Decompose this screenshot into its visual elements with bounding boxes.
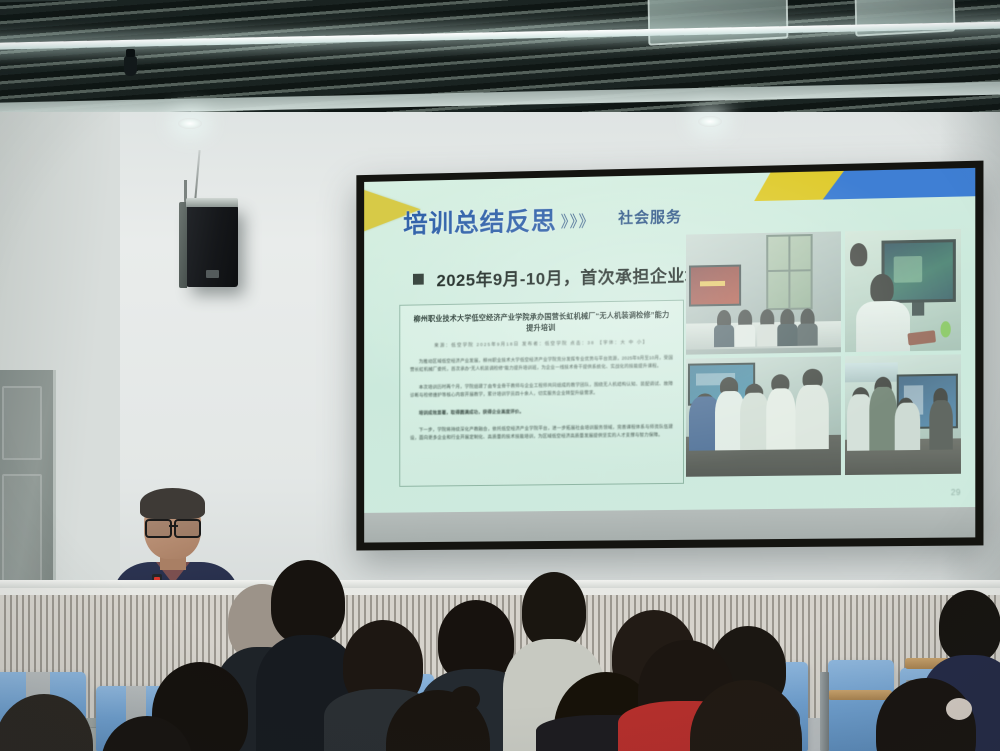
pa-speaker (186, 205, 238, 287)
ceiling (0, 0, 1000, 120)
person-body (766, 388, 795, 450)
person-head (522, 572, 586, 648)
glasses-icon (145, 519, 201, 534)
person-body (796, 385, 829, 450)
person-head (101, 716, 193, 751)
bullet-square-icon (413, 274, 424, 285)
person-body (735, 325, 755, 347)
person-head (690, 680, 802, 751)
slide-number: 29 (951, 488, 961, 497)
lab-demonstration-photo (845, 354, 961, 475)
person-body (757, 324, 777, 346)
document-meta: 来源：低空学院 2025年9月18日 发布者：低空学院 点击：38 【字体：大 … (410, 339, 673, 349)
downlight-icon (698, 116, 722, 127)
audience-person (92, 716, 202, 751)
document-paragraph: 下一步，学院将持续深化产教融合，依托低空经济产业学院平台，进一步拓展社会培训服务… (410, 423, 673, 443)
person-body (777, 324, 797, 346)
person-head (0, 694, 93, 751)
slide-bullet-row: 2025年9月-10月，首次承担企业培训 (413, 261, 720, 292)
drone-shape (907, 330, 936, 345)
door-panel (2, 474, 42, 594)
person-head (939, 590, 1000, 662)
presentation-slide: 培训总结反思 》》》 社会服务 2025年9月-10月，首次承担企业培训 柳州职… (364, 168, 975, 543)
audience-person (0, 694, 104, 751)
chevron-separator-icon: 》》》 (561, 208, 596, 233)
slide-title: 培训总结反思 (403, 201, 556, 240)
screen-surface: 培训总结反思 》》》 社会服务 2025年9月-10月，首次承担企业培训 柳州职… (364, 168, 975, 543)
lecture-hall-scene: 培训总结反思 》》》 社会服务 2025年9月-10月，首次承担企业培训 柳州职… (0, 0, 1000, 751)
classroom-lecture-photo (686, 231, 841, 354)
audience-person (676, 680, 816, 751)
slide-subtitle: 社会服务 (618, 206, 682, 228)
window-shape (766, 234, 813, 310)
person-body (740, 393, 769, 450)
person-body (930, 400, 953, 450)
speaker-badge-icon (206, 270, 219, 278)
person-body (797, 324, 817, 346)
document-title: 柳州职业技术大学低空经济产业学院承办国营长虹机械厂“无人机装调检修”能力提升培训 (410, 309, 673, 335)
person-body (895, 403, 921, 451)
document-screenshot-card: 柳州职业技术大学低空经济产业学院承办国营长虹机械厂“无人机装调检修”能力提升培训… (399, 300, 684, 487)
ceiling-vent-icon (648, 0, 789, 46)
document-paragraph: 为推动区域低空经济产业发展，柳州职业技术大学低空经济产业学院充分发挥专业优势与平… (410, 354, 673, 375)
document-paragraph: 本次培训历时两个月，学院组建了由专业骨干教师与企业工程师共同组成的教学团队，围绕… (410, 380, 673, 401)
audience-person (376, 690, 500, 751)
student-at-monitor-photo (845, 229, 961, 352)
document-paragraph: 培训成效显著，取得圆满成功，获得企业高度评价。 (410, 406, 673, 418)
hands-on-lab-photo (686, 356, 841, 477)
photo-collage (686, 229, 961, 477)
person-head (850, 243, 867, 266)
slide-footer-band (364, 507, 975, 543)
audience-person (862, 678, 990, 751)
seat-leg (820, 672, 829, 751)
glasses-bridge (169, 525, 178, 527)
monitor-stand-shape (912, 302, 924, 316)
person-head (870, 274, 893, 303)
door-panel (2, 386, 42, 460)
person-body (714, 325, 734, 347)
display-screen-shape (689, 265, 741, 307)
downlight-icon (178, 118, 202, 129)
presenter-hair (140, 488, 205, 519)
ceiling-camera-icon (124, 56, 137, 76)
person-body (869, 386, 897, 451)
person-body (857, 300, 910, 352)
wall-rail-shape (845, 362, 898, 382)
projection-screen[interactable]: 培训总结反思 》》》 社会服务 2025年9月-10月，首次承担企业培训 柳州职… (356, 161, 983, 551)
green-object-shape (940, 321, 950, 337)
hair-bun (450, 686, 480, 712)
slide-bullet-text: 2025年9月-10月，首次承担企业培训 (436, 261, 719, 291)
hair-tie (946, 698, 972, 720)
decor-blue-banner (823, 168, 976, 200)
